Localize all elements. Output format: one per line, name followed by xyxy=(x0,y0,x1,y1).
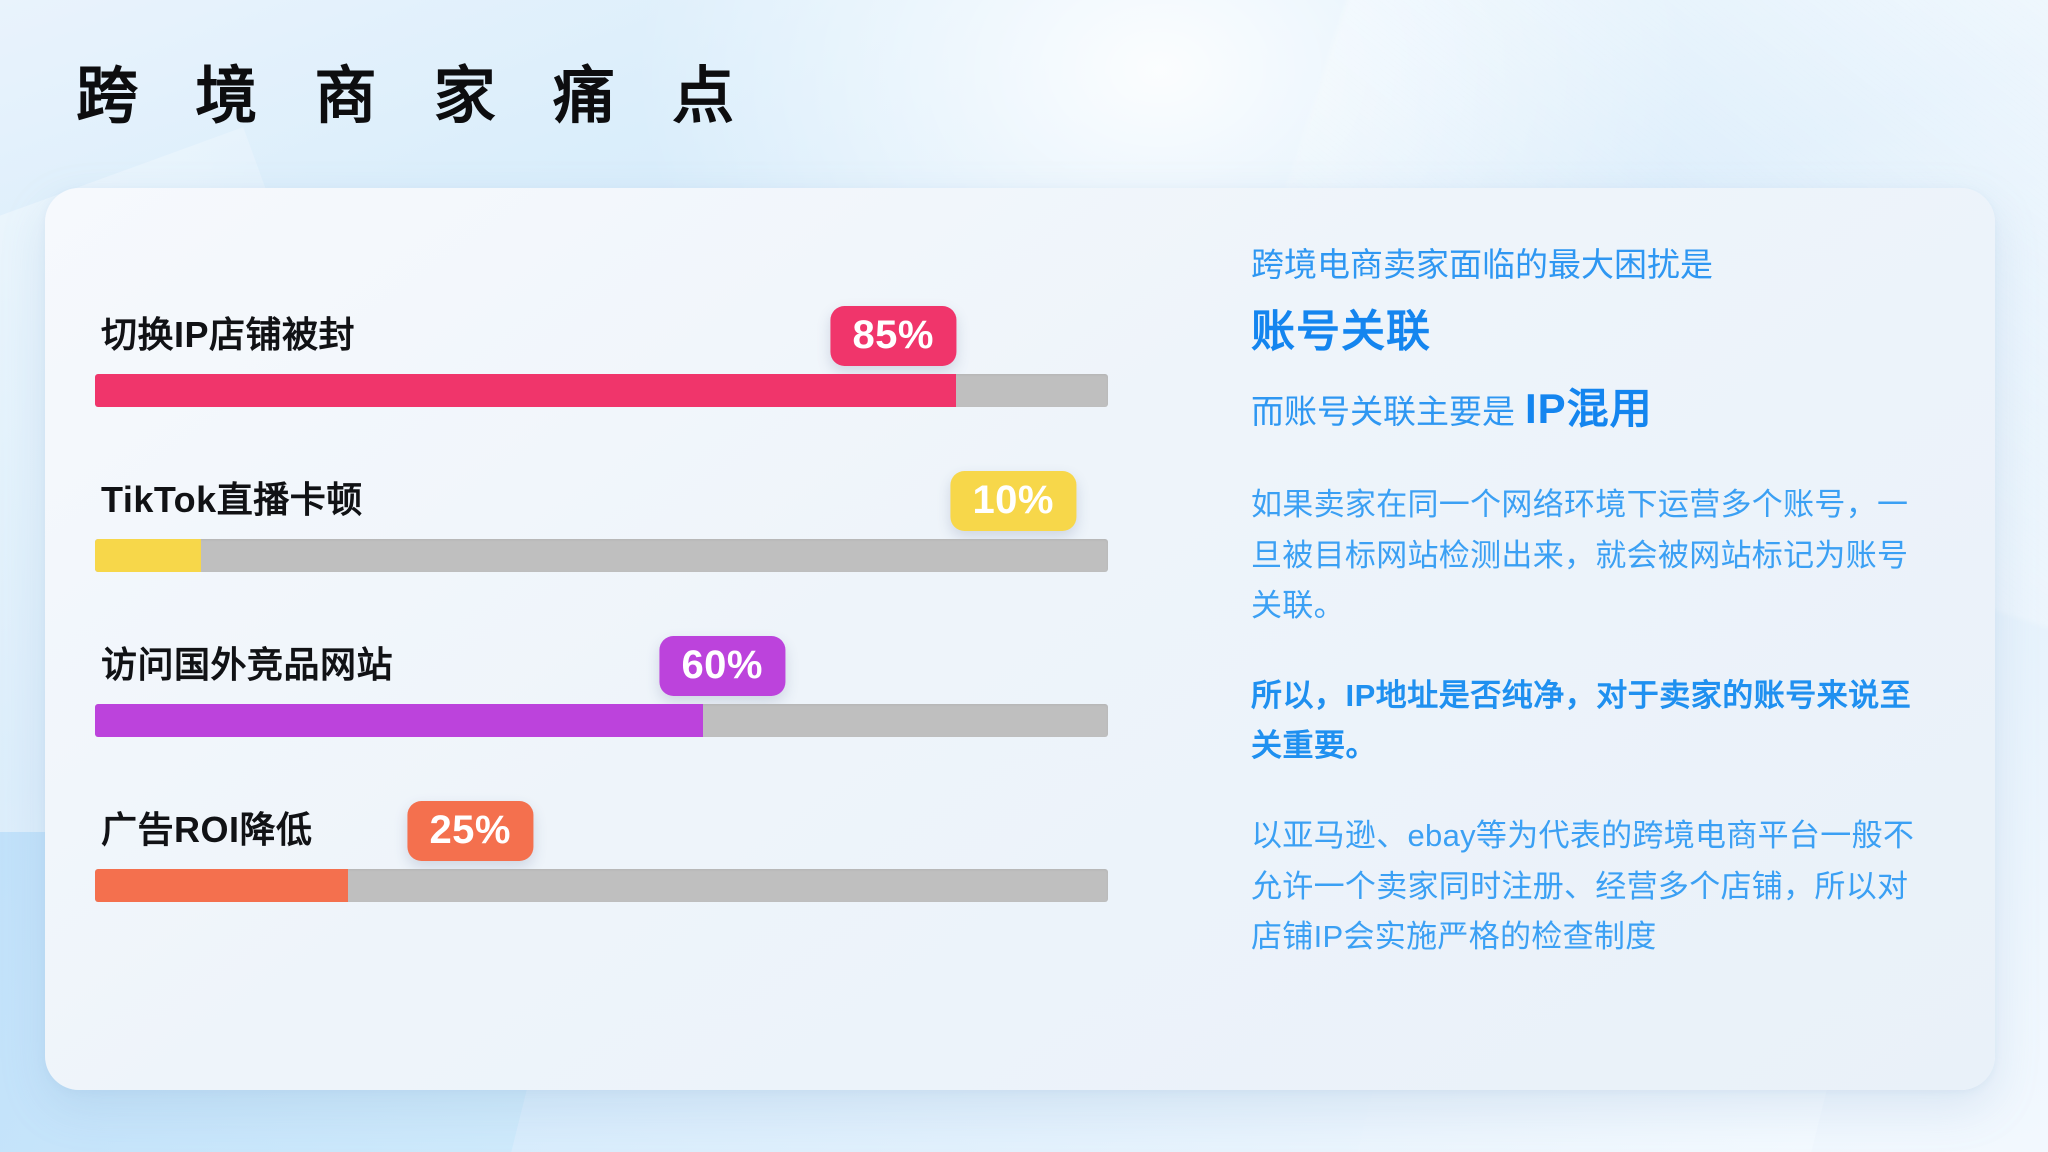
bar-track xyxy=(95,539,1108,572)
lead-text: 跨境电商卖家面临的最大困扰是 xyxy=(1251,240,1935,290)
subline-prefix: 而账号关联主要是 xyxy=(1251,393,1515,430)
bar-label: TikTok直播卡顿 xyxy=(101,471,363,523)
bar-header: TikTok直播卡顿 10% xyxy=(95,427,1108,539)
bar-row: 切换IP店铺被封 85% xyxy=(95,262,1108,427)
bar-track xyxy=(95,374,1108,407)
paragraph-3: 以亚马逊、ebay等为代表的跨境电商平台一般不允许一个卖家同时注册、经营多个店铺… xyxy=(1251,811,1935,962)
bar-header: 切换IP店铺被封 85% xyxy=(95,262,1108,374)
slide-canvas: 跨 境 商 家 痛 点 切换IP店铺被封 85% TikTok直播卡顿 10% xyxy=(0,0,2048,1152)
subline-emphasis: IP混用 xyxy=(1525,385,1653,432)
bar-row: 广告ROI降低 25% xyxy=(95,757,1108,922)
bar-fill xyxy=(95,869,348,902)
bar-row: TikTok直播卡顿 10% xyxy=(95,427,1108,592)
subline: 而账号关联主要是IP混用 xyxy=(1251,377,1935,440)
bar-header: 广告ROI降低 25% xyxy=(95,757,1108,869)
bar-value-badge: 25% xyxy=(407,801,533,861)
explanation-panel: 跨境电商卖家面临的最大困扰是 账号关联 而账号关联主要是IP混用 如果卖家在同一… xyxy=(1185,188,1995,1090)
page-title: 跨 境 商 家 痛 点 xyxy=(76,60,754,134)
bar-label: 访问国外竞品网站 xyxy=(101,636,393,688)
bar-row: 访问国外竞品网站 60% xyxy=(95,592,1108,757)
bar-fill xyxy=(95,374,956,407)
content-card: 切换IP店铺被封 85% TikTok直播卡顿 10% 访问国外竞品网站 xyxy=(45,188,1995,1090)
paragraph-2: 所以，IP地址是否纯净，对于卖家的账号来说至关重要。 xyxy=(1251,671,1935,771)
bar-fill xyxy=(95,539,201,572)
bar-value-badge: 10% xyxy=(950,471,1076,531)
bar-fill xyxy=(95,704,703,737)
bar-value-badge: 85% xyxy=(830,306,956,366)
headline-text: 账号关联 xyxy=(1251,300,1935,364)
bar-chart-panel: 切换IP店铺被封 85% TikTok直播卡顿 10% 访问国外竞品网站 xyxy=(45,188,1185,1090)
bar-label: 广告ROI降低 xyxy=(101,801,313,853)
bar-header: 访问国外竞品网站 60% xyxy=(95,592,1108,704)
bar-label: 切换IP店铺被封 xyxy=(101,306,355,358)
bar-value-badge: 60% xyxy=(659,636,785,696)
bar-track xyxy=(95,869,1108,902)
paragraph-1: 如果卖家在同一个网络环境下运营多个账号，一旦被目标网站检测出来，就会被网站标记为… xyxy=(1251,480,1935,631)
bar-track xyxy=(95,704,1108,737)
